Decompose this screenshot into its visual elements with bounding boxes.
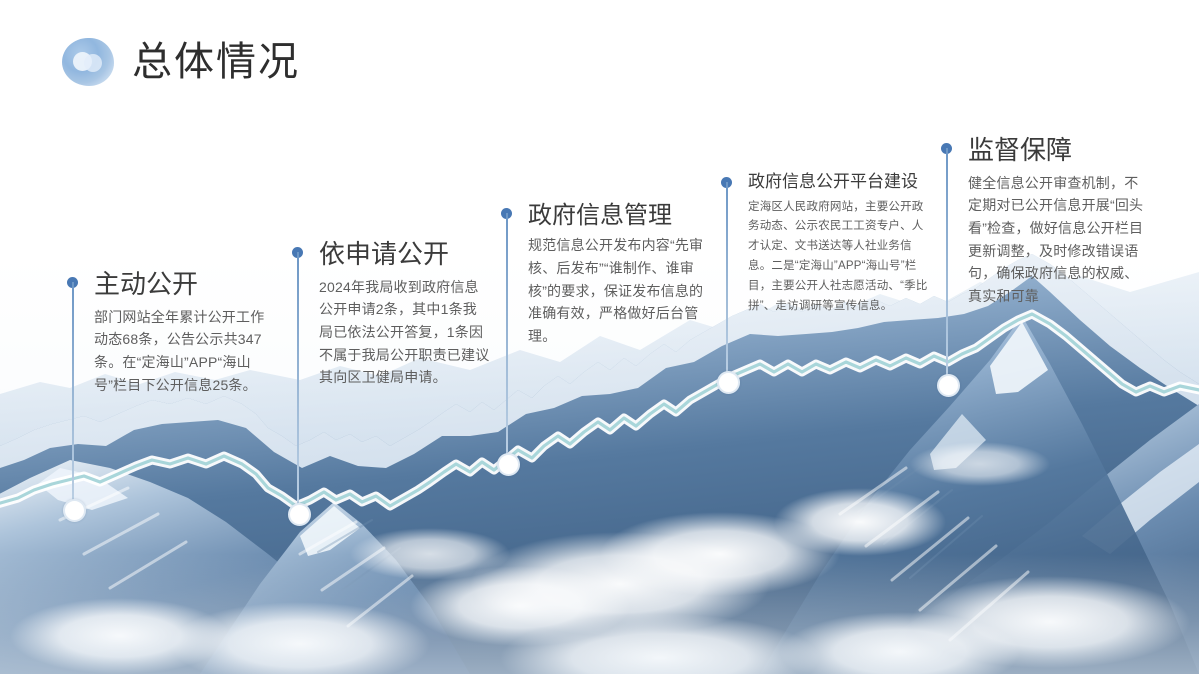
- icon-circle-right: [84, 54, 102, 72]
- milestone-3-text: 规范信息公开发布内容“先审核、后发布”“谁制作、谁审核”的要求，保证发布信息的准…: [528, 234, 706, 347]
- milestone-1-text: 部门网站全年累计公开工作动态68条，公告公示共347条。在“定海山”APP“海山…: [94, 306, 266, 397]
- slide-canvas: 总体情况 主动公开 部门网站全年累计公开工作动态68条，公告公示共347条。在“…: [0, 0, 1199, 674]
- milestone-4-heading: 政府信息公开平台建设: [748, 173, 931, 192]
- milestone-5-heading: 监督保障: [968, 137, 1150, 166]
- milestone-3-ridge-marker: [497, 453, 520, 476]
- milestone-5-stem: [946, 148, 948, 383]
- overlapping-circles-icon: [62, 38, 114, 86]
- milestone-3-heading: 政府信息管理: [528, 202, 706, 228]
- milestone-2-body: 依申请公开 2024年我局收到政府信息公开申请2条，其中1条我局已依法公开答复，…: [319, 241, 491, 389]
- page-title: 总体情况: [132, 42, 300, 82]
- milestone-2-ridge-marker: [288, 503, 311, 526]
- milestone-4-text: 定海区人民政府网站，主要公开政务动态、公示农民工工资专户、人才认定、文书送达等人…: [748, 198, 931, 317]
- milestone-4-stem: [726, 182, 728, 380]
- milestone-4-ridge-marker: [717, 371, 740, 394]
- milestone-3-body: 政府信息管理 规范信息公开发布内容“先审核、后发布”“谁制作、谁审核”的要求，保…: [528, 202, 706, 348]
- milestone-1-heading: 主动公开: [94, 271, 266, 300]
- milestone-1-ridge-marker: [63, 499, 86, 522]
- milestone-2-heading: 依申请公开: [319, 241, 491, 270]
- milestone-5-ridge-marker: [937, 374, 960, 397]
- milestone-5-body: 监督保障 健全信息公开审查机制，不定期对已公开信息开展“回头看”检查，做好信息公…: [968, 137, 1150, 308]
- milestone-1-stem: [72, 282, 74, 508]
- page-header: 总体情况: [62, 38, 300, 86]
- milestone-3-stem: [506, 213, 508, 462]
- milestone-1-body: 主动公开 部门网站全年累计公开工作动态68条，公告公示共347条。在“定海山”A…: [94, 271, 266, 396]
- milestone-2-text: 2024年我局收到政府信息公开申请2条，其中1条我局已依法公开答复，1条因不属于…: [319, 276, 491, 389]
- milestone-5-text: 健全信息公开审查机制，不定期对已公开信息开展“回头看”检查，做好信息公开栏目更新…: [968, 172, 1150, 308]
- milestone-2-stem: [297, 252, 299, 512]
- milestone-4-body: 政府信息公开平台建设 定海区人民政府网站，主要公开政务动态、公示农民工工资专户、…: [748, 173, 931, 316]
